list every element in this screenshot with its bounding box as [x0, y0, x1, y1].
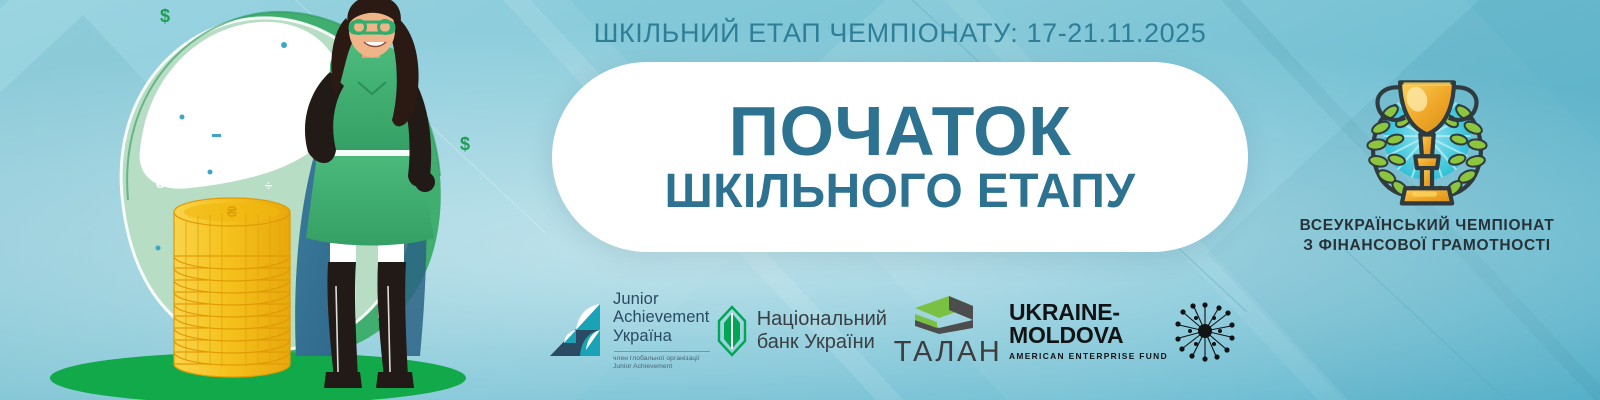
nbu-name-line-2: банк України — [757, 331, 887, 354]
ja-tagline-line-1: член глобальної організації — [613, 355, 710, 364]
dandelion-icon — [1174, 300, 1236, 362]
sponsor-strip: Junior Achievement Україна член глобальн… — [546, 284, 1236, 378]
promo-banner: $ $ ₴ x ÷ — [0, 0, 1600, 400]
ja-triangle-icon — [546, 302, 604, 360]
trophy-laurel-icon — [1343, 62, 1511, 212]
event-date-kicker: ШКІЛЬНИЙ ЕТАП ЧЕМПІОНАТУ: 17-21.11.2025 — [552, 18, 1248, 49]
nbu-leaf-icon — [717, 305, 747, 357]
sponsor-national-bank-of-ukraine[interactable]: Національний банк України — [717, 305, 887, 357]
ja-name-line-2: Achievement — [613, 308, 710, 327]
svg-text:÷: ÷ — [265, 178, 272, 193]
talan-wordmark: ТАЛАН — [894, 336, 1003, 369]
svg-text:$: $ — [460, 134, 470, 154]
headline-line-2: ШКІЛЬНОГО ЕТАПУ — [665, 168, 1136, 217]
svg-text:x: x — [300, 105, 307, 119]
talan-chevron-icon — [909, 294, 987, 334]
ja-divider — [614, 351, 710, 352]
ja-name-line-1: Junior — [613, 290, 710, 309]
headline-pill: ПОЧАТОК ШКІЛЬНОГО ЕТАПУ — [552, 62, 1248, 252]
championship-title-line-2: З ФІНАНСОВОЇ ГРАМОТНОСТІ — [1300, 236, 1555, 256]
umaef-tagline: AMERICAN ENTERPRISE FUND — [1009, 351, 1168, 361]
championship-title: ВСЕУКРАЇНСЬКИЙ ЧЕМПІОНАТ З ФІНАНСОВОЇ ГР… — [1300, 216, 1555, 256]
headline-line-1: ПОЧАТОК — [729, 97, 1072, 166]
svg-text:$: $ — [160, 6, 170, 26]
coin-stack: ₴ — [174, 198, 290, 377]
nbu-name-line-1: Національний — [757, 308, 887, 331]
svg-text:₴: ₴ — [156, 176, 165, 191]
umaef-name-line-2: MOLDOVA — [1009, 324, 1168, 347]
hero-illustration: $ $ ₴ x ÷ — [0, 0, 520, 400]
umaef-name-line-1: UKRAINE- — [1009, 301, 1168, 324]
championship-title-line-1: ВСЕУКРАЇНСЬКИЙ ЧЕМПІОНАТ — [1300, 216, 1555, 236]
championship-lockup: ВСЕУКРАЇНСЬКИЙ ЧЕМПІОНАТ З ФІНАНСОВОЇ ГР… — [1262, 62, 1592, 267]
ja-tagline-line-2: Junior Achievement — [613, 363, 710, 372]
sponsor-junior-achievement[interactable]: Junior Achievement Україна член глобальн… — [546, 290, 710, 372]
sponsor-ukraine-moldova-aef[interactable]: UKRAINE- MOLDOVA AMERICAN ENTERPRISE FUN… — [1009, 300, 1236, 362]
svg-text:₴: ₴ — [227, 204, 238, 221]
ja-name-line-3: Україна — [613, 327, 710, 346]
sponsor-talan[interactable]: ТАЛАН — [894, 294, 1003, 369]
